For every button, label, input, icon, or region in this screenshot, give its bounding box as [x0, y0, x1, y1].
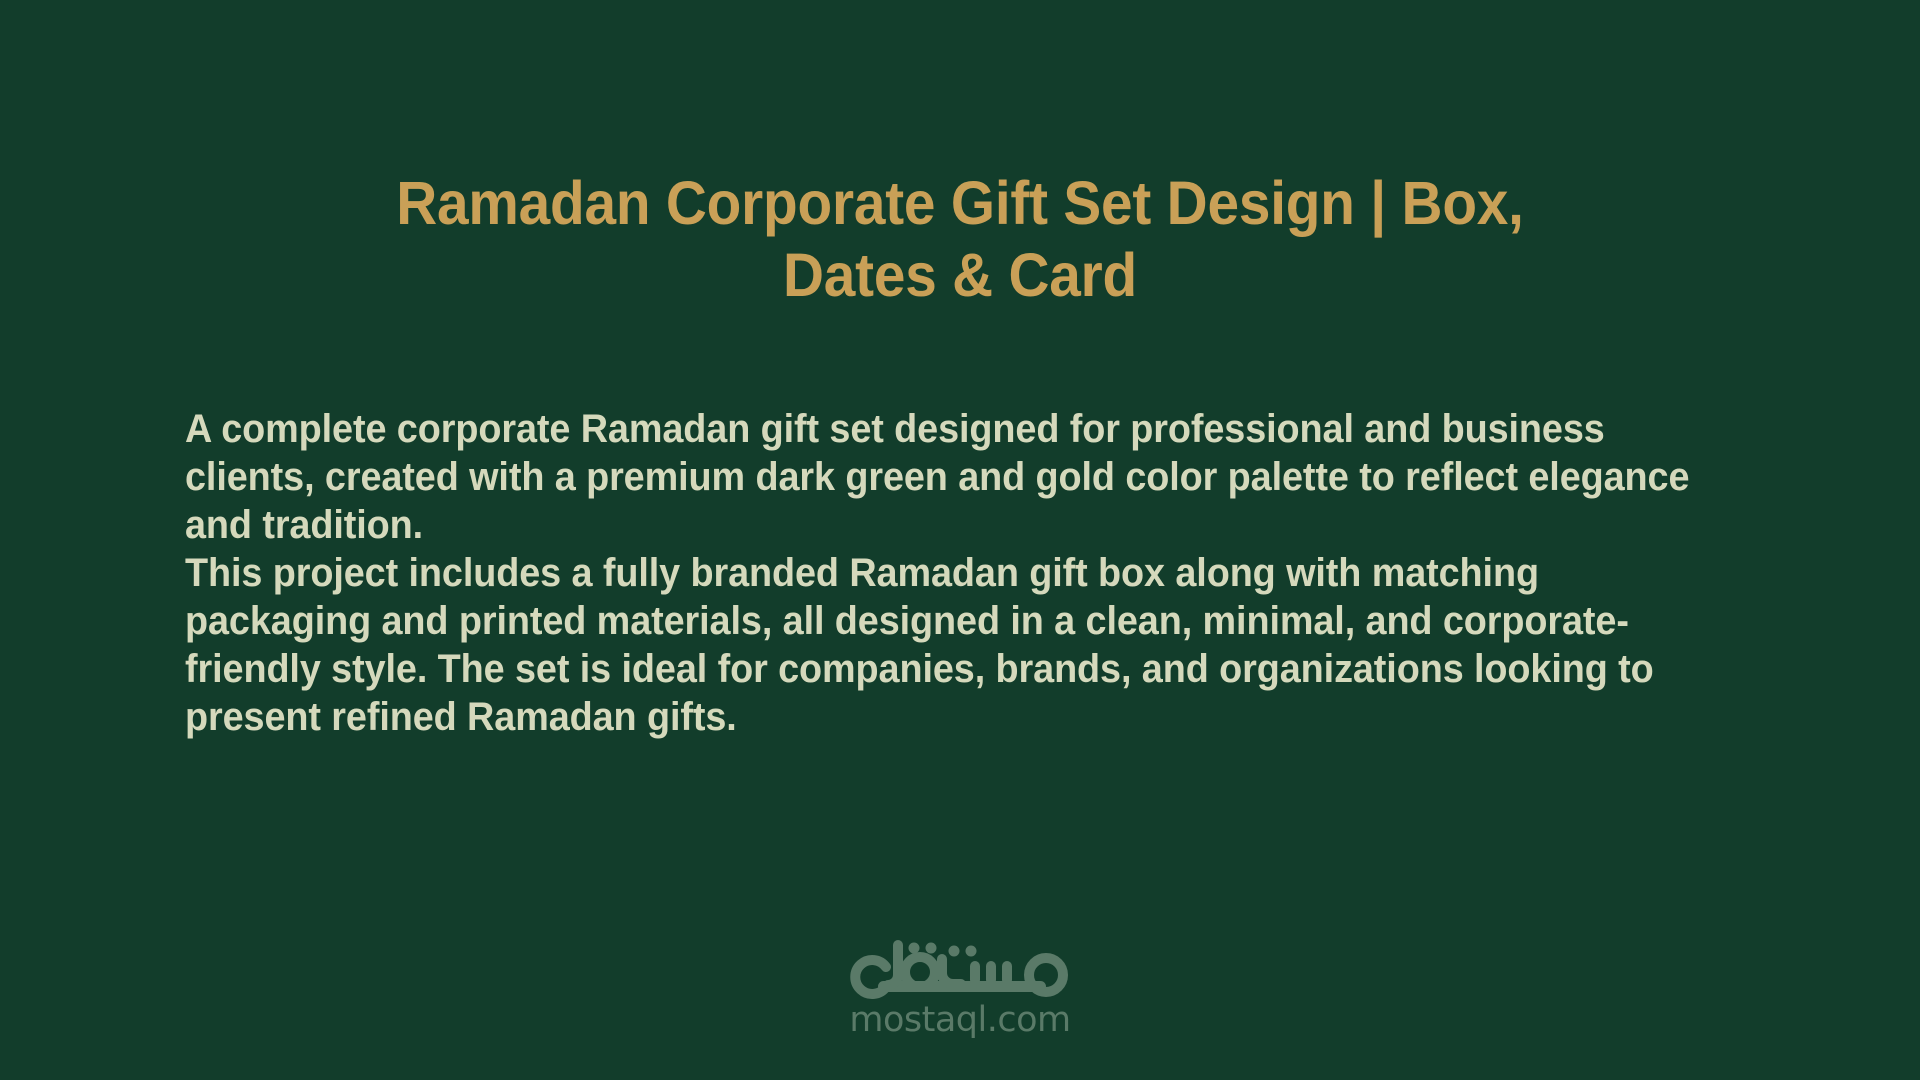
mostaql-wordmark: mostaql.com	[849, 1003, 1070, 1038]
slide-root: Ramadan Corporate Gift Set Design | Box,…	[0, 0, 1920, 1080]
page-title: Ramadan Corporate Gift Set Design | Box,…	[328, 168, 1593, 312]
mostaql-branding: mostaql.com	[0, 939, 1920, 1038]
title-block: Ramadan Corporate Gift Set Design | Box,…	[0, 168, 1920, 312]
description-paragraph-2: This project includes a fully branded Ra…	[185, 549, 1721, 741]
mostaql-logo-icon	[842, 939, 1078, 1001]
description-block: A complete corporate Ramadan gift set de…	[185, 405, 1810, 741]
description-paragraph-1: A complete corporate Ramadan gift set de…	[185, 405, 1721, 549]
